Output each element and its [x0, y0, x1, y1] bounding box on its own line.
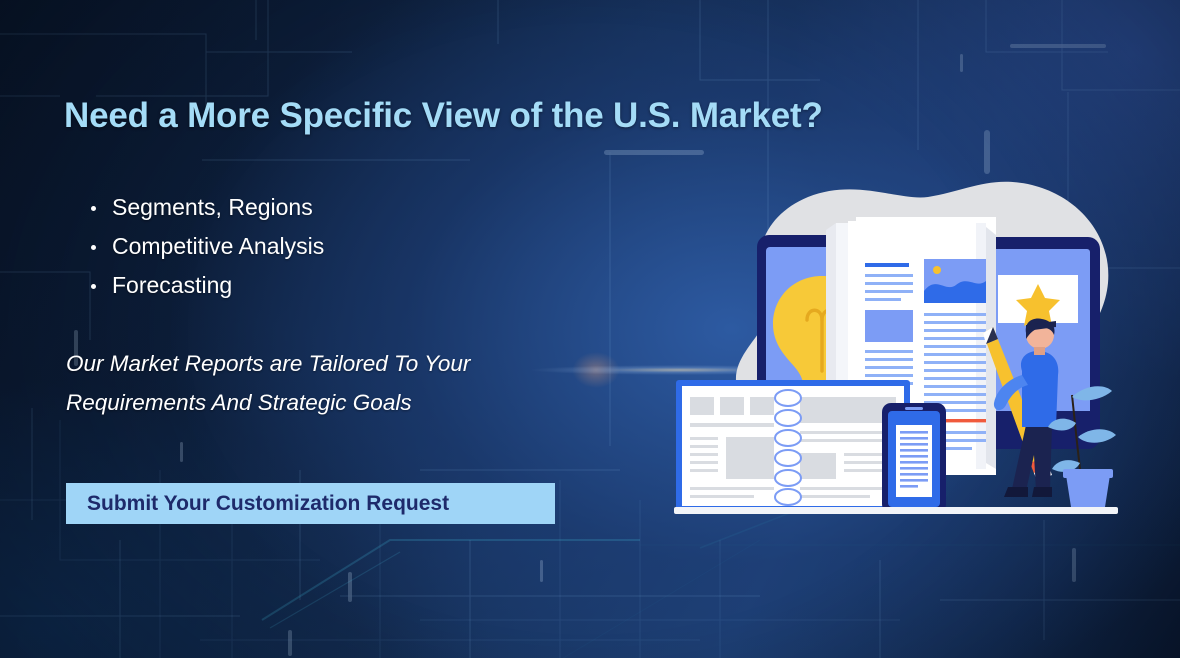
spiral-notebook [676, 380, 910, 512]
book-image-block [924, 259, 986, 303]
feature-list: Segments, Regions Competitive Analysis F… [78, 188, 324, 305]
page-title: Need a More Specific View of the U.S. Ma… [64, 96, 823, 136]
smartphone [882, 403, 946, 513]
list-item: Segments, Regions [112, 188, 324, 227]
market-research-illustration [660, 175, 1130, 525]
list-item: Forecasting [112, 266, 324, 305]
promo-banner: Need a More Specific View of the U.S. Ma… [0, 0, 1180, 658]
ground-line [674, 507, 1118, 514]
list-item: Competitive Analysis [112, 227, 324, 266]
submit-customization-request-button[interactable]: Submit Your Customization Request [66, 483, 555, 524]
tagline-text: Our Market Reports are Tailored To Your … [66, 344, 596, 422]
